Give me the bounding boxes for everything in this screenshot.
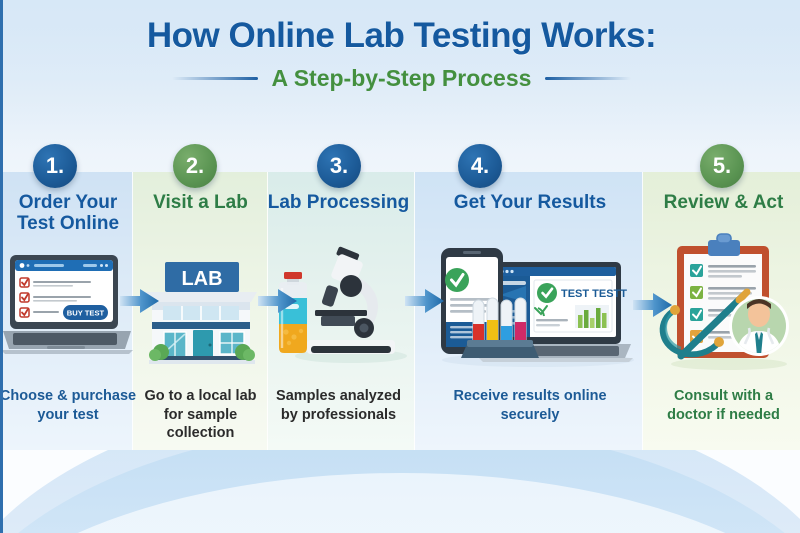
step-heading-5-line1: Review & Act	[644, 192, 800, 213]
step-number-label-4: 4.	[471, 153, 489, 179]
step-caption-1-line2: your test	[0, 406, 139, 425]
step-heading-1-line1: Order Your	[0, 192, 139, 213]
step-caption-3-line1: Samples analyzed	[261, 387, 416, 406]
step-caption-4-line1: Receive results online	[416, 387, 644, 406]
page-title: How Online Lab Testing Works:	[3, 18, 800, 55]
step-number-label-3: 3.	[330, 153, 348, 179]
step-number-badge-2: 2.	[173, 144, 217, 188]
step-heading-1-line2: Test Online	[0, 213, 139, 234]
step-number-badge-4: 4.	[458, 144, 502, 188]
background-wave-3	[0, 473, 800, 533]
clipboard-doctor-illustration	[651, 232, 800, 372]
step-heading-3-line1: Lab Processing	[261, 192, 416, 213]
step-heading-4-line1: Get Your Results	[416, 192, 644, 213]
step-heading-3: Lab Processing	[261, 192, 416, 213]
header: How Online Lab Testing Works: A Step-by-…	[3, 18, 800, 92]
arrow-step2-to-step3	[258, 287, 298, 315]
step-caption-2-line1: Go to a local lab	[133, 387, 268, 406]
subtitle-rule-right	[545, 77, 631, 80]
step-caption-4-line2: securely	[416, 406, 644, 425]
step-number-badge-1: 1.	[33, 144, 77, 188]
subtitle-rule-left	[172, 77, 258, 80]
buy-test-button-label: BUY TEST	[67, 309, 105, 318]
step-caption-2-line3: collection	[133, 424, 268, 443]
step-heading-1: Order Your Test Online	[0, 192, 139, 235]
step-caption-5-line2: doctor if needed	[644, 406, 800, 425]
step-caption-1: Choose & purchase your test	[0, 387, 139, 424]
arrow-step4-to-step5	[633, 291, 673, 319]
step-heading-2-line1: Visit a Lab	[133, 192, 268, 213]
step-caption-1-line1: Choose & purchase	[0, 387, 139, 406]
step-heading-5: Review & Act	[644, 192, 800, 213]
arrow-step3-to-step4	[405, 287, 445, 315]
results-screen-title: TEST TESTT	[561, 288, 627, 300]
lab-sign-label: LAB	[181, 268, 222, 290]
step-heading-2: Visit a Lab	[133, 192, 268, 213]
step-caption-4: Receive results online securely	[416, 387, 644, 424]
step-caption-2: Go to a local lab for sample collection	[133, 387, 268, 443]
laptop-order-illustration: BUY TEST	[1, 253, 133, 361]
step-number-label-2: 2.	[186, 153, 204, 179]
step-caption-2-line2: for sample	[133, 406, 268, 425]
step-caption-3: Samples analyzed by professionals	[261, 387, 416, 424]
step-number-badge-5: 5.	[700, 144, 744, 188]
subtitle-row: A Step-by-Step Process	[3, 65, 800, 92]
step-number-label-5: 5.	[713, 153, 731, 179]
infographic-canvas: How Online Lab Testing Works: A Step-by-…	[0, 0, 800, 533]
step-heading-4: Get Your Results	[416, 192, 644, 213]
step-caption-5: Consult with a doctor if needed	[644, 387, 800, 424]
step-number-label-1: 1.	[46, 153, 64, 179]
step-number-badge-3: 3.	[317, 144, 361, 188]
results-devices-illustration: TEST TESTT	[423, 240, 645, 368]
step-caption-3-line2: by professionals	[261, 406, 416, 425]
arrow-step1-to-step2	[120, 287, 160, 315]
page-subtitle: A Step-by-Step Process	[272, 65, 532, 92]
step-caption-5-line1: Consult with a	[644, 387, 800, 406]
